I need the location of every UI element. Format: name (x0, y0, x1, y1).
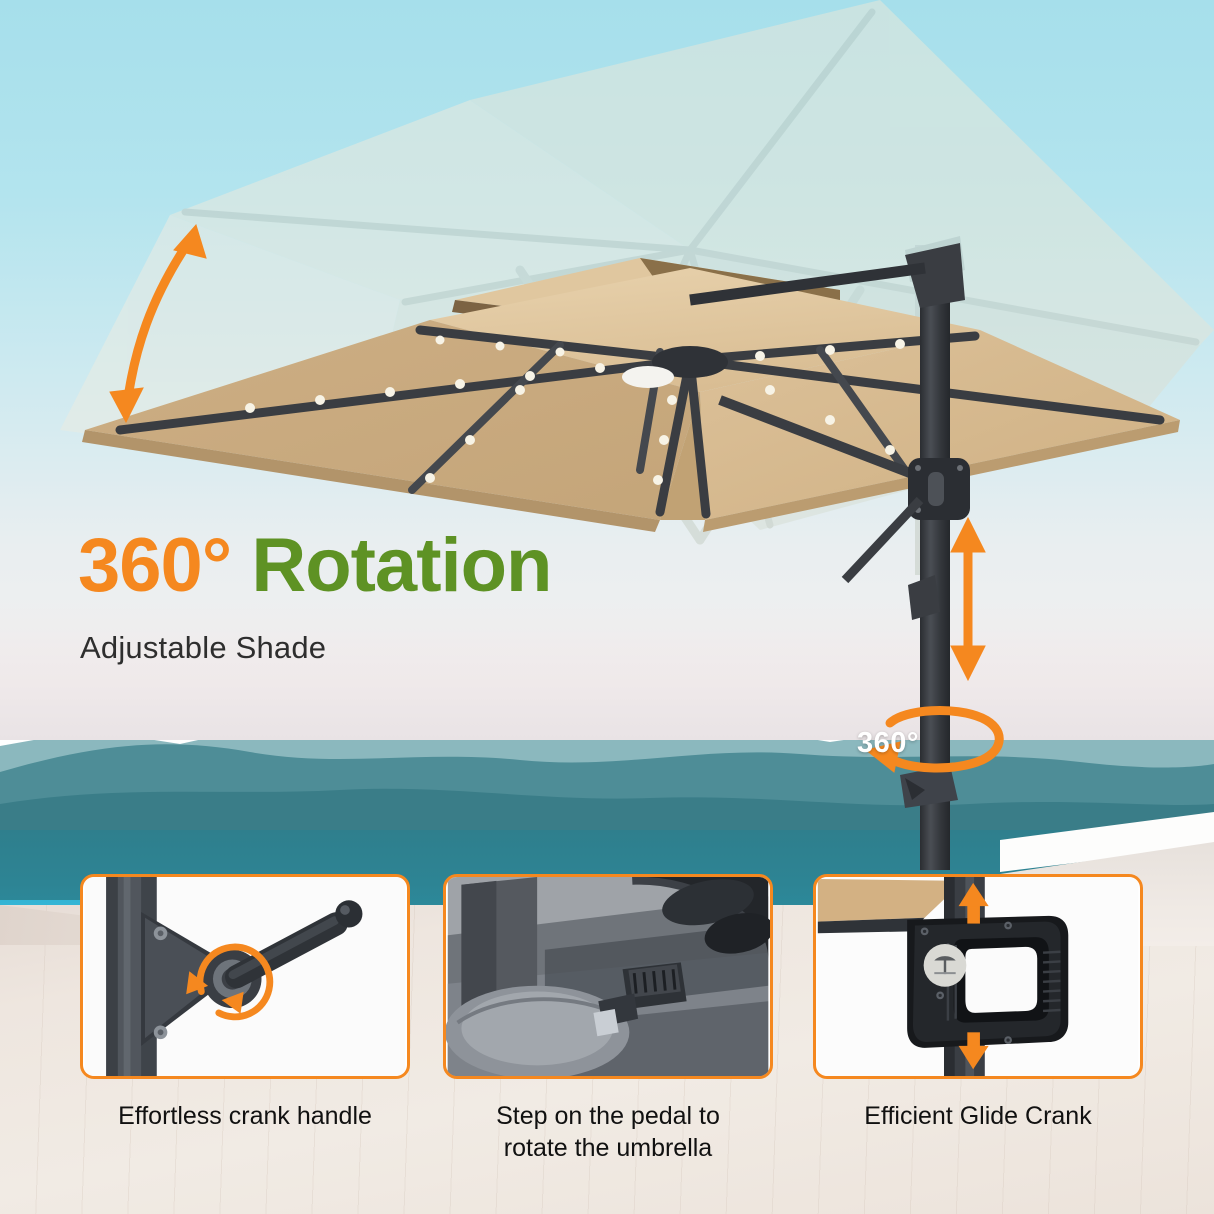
pole-rotation-label: 360° (857, 727, 919, 760)
caption-foot-pedal-line2: rotate the umbrella (443, 1132, 773, 1164)
tilt-arrow-icon (110, 225, 206, 422)
crank-handle-photo (83, 877, 407, 1076)
caption-foot-pedal-line1: Step on the pedal to (443, 1100, 773, 1132)
headline-word: Rotation (231, 523, 551, 608)
headline-degrees: 360° (78, 523, 231, 608)
panel-glide-crank[interactable] (813, 874, 1143, 1079)
panel-foot-pedal[interactable] (443, 874, 773, 1079)
product-feature-image: 360° Rotation Adjustable Shade 360° (0, 0, 1214, 1214)
height-arrow-icon (951, 518, 985, 680)
page-subtitle: Adjustable Shade (80, 630, 326, 666)
page-title: 360° Rotation (78, 528, 551, 604)
caption-glide-crank: Efficient Glide Crank (813, 1100, 1143, 1132)
caption-foot-pedal: Step on the pedal to rotate the umbrella (443, 1100, 773, 1164)
panel-crank-handle[interactable] (80, 874, 410, 1079)
brand-badge-icon (924, 944, 967, 987)
glide-crank-photo (816, 877, 1140, 1076)
caption-crank-handle: Effortless crank handle (80, 1100, 410, 1132)
foot-pedal-photo (446, 877, 770, 1076)
glide-crank-body (907, 916, 1068, 1048)
